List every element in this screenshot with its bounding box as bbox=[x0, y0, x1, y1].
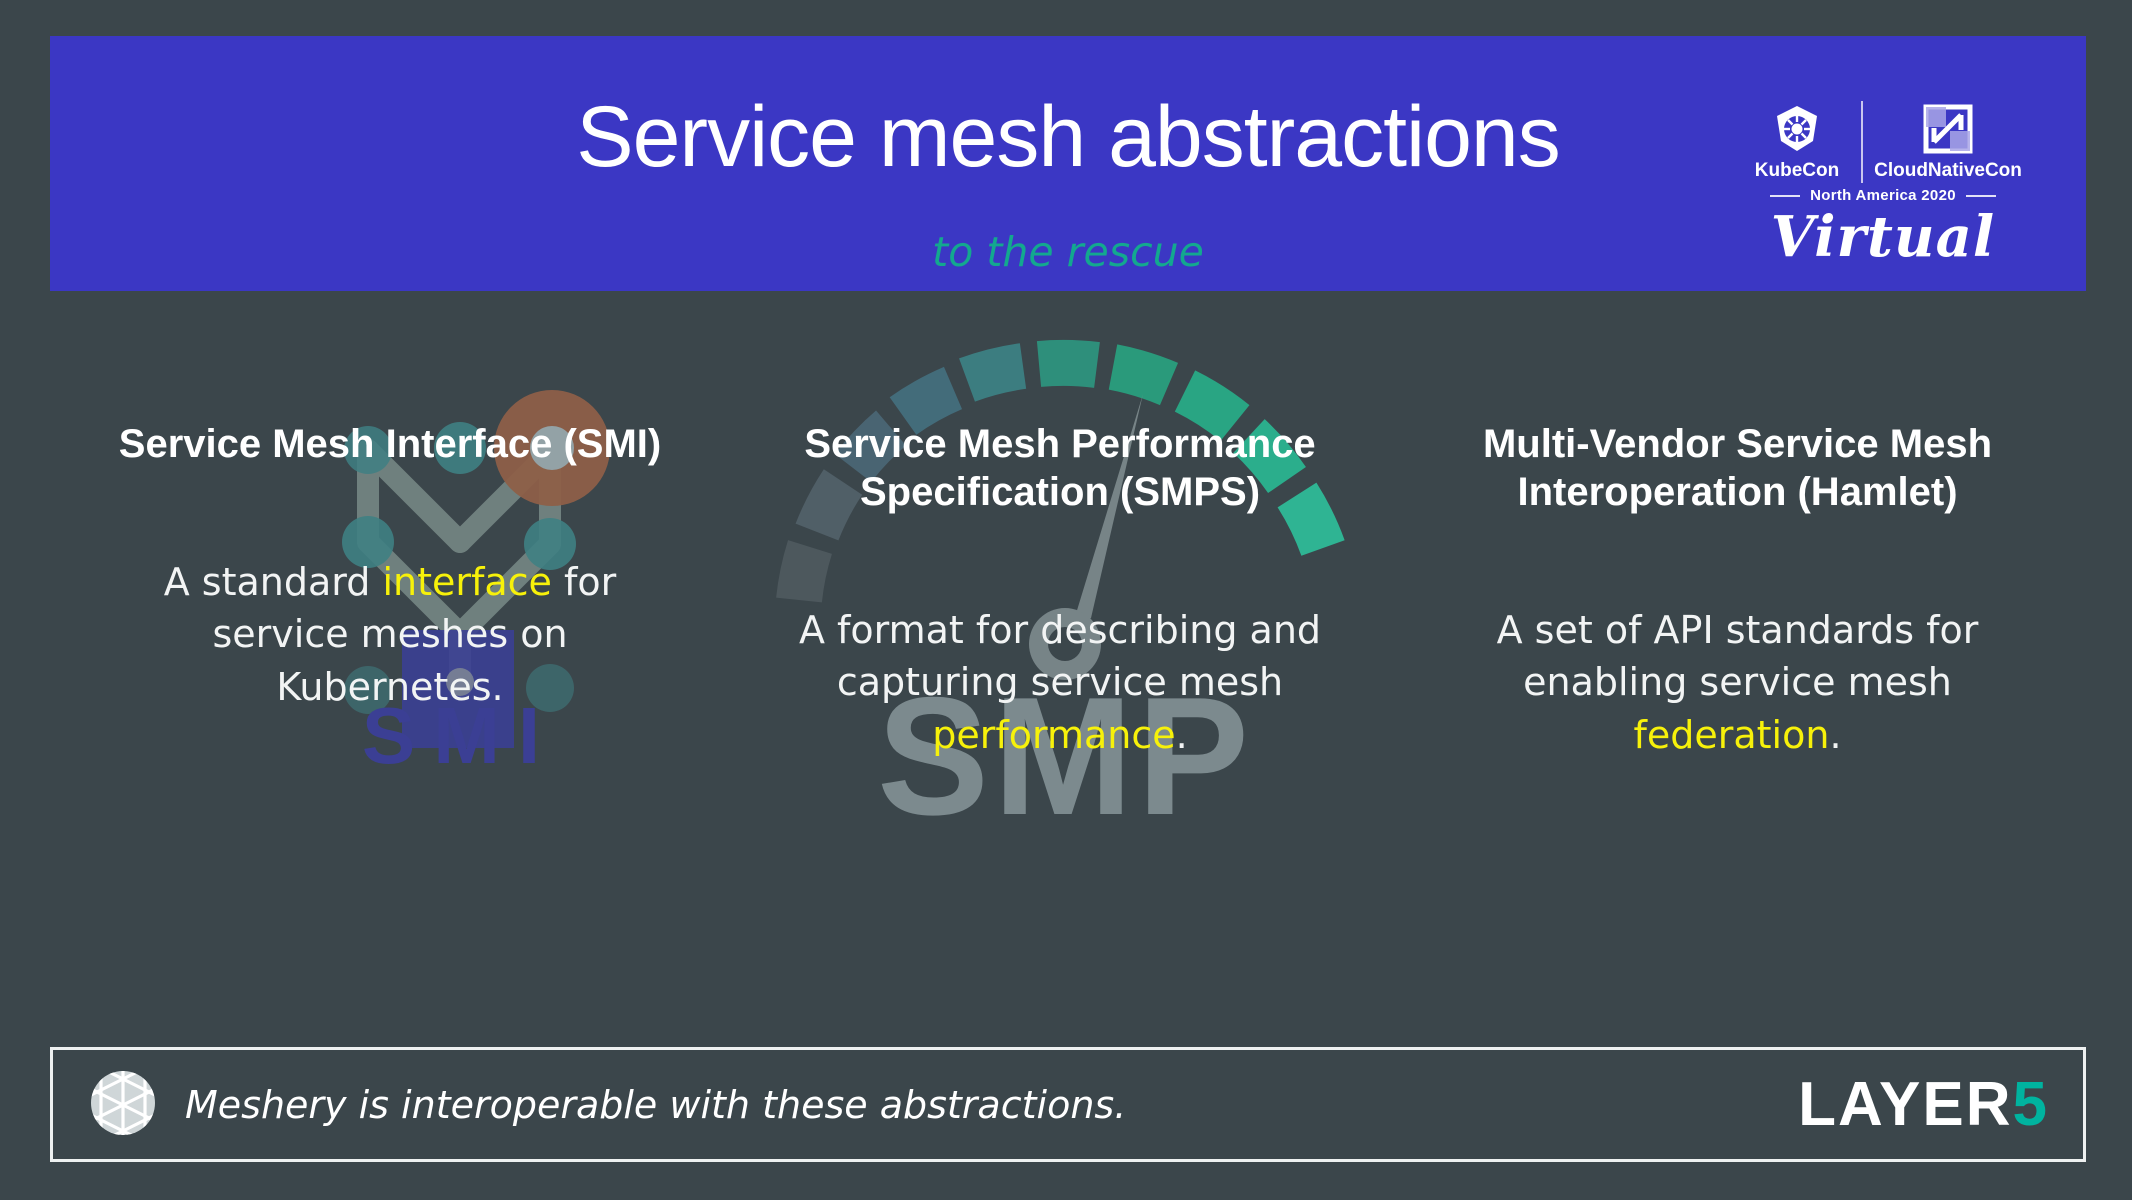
abstractions-columns: SMI Service Mesh Interface (SMI) A stand… bbox=[50, 420, 2086, 980]
region-rule-left bbox=[1770, 195, 1800, 197]
smi-body-before: A standard bbox=[164, 560, 383, 604]
column-smi: SMI Service Mesh Interface (SMI) A stand… bbox=[110, 420, 670, 980]
cloudnative-square-icon bbox=[1923, 102, 1973, 156]
logo-divider bbox=[1861, 101, 1863, 183]
column-smi-body: A standard interface for service meshes … bbox=[110, 556, 670, 713]
smps-body-before: A format for describing and capturing se… bbox=[799, 608, 1321, 704]
column-smps-heading: Service Mesh Performance Specification (… bbox=[730, 420, 1390, 516]
column-hamlet-heading: Multi-Vendor Service Mesh Interoperation… bbox=[1435, 420, 2040, 516]
layer5-wordmark: LAYER bbox=[1798, 1069, 2012, 1140]
column-hamlet: Multi-Vendor Service Mesh Interoperation… bbox=[1435, 420, 2040, 980]
hamlet-body-before: A set of API standards for enabling serv… bbox=[1497, 608, 1979, 704]
kubernetes-helm-icon bbox=[1771, 102, 1823, 156]
region-label: North America 2020 bbox=[1810, 187, 1956, 204]
kubecon-block: KubeCon bbox=[1743, 102, 1851, 182]
region-rule-right bbox=[1966, 195, 1996, 197]
footer-message: Meshery is interoperable with these abst… bbox=[185, 1083, 1126, 1127]
smp-gauge-watermark: SMP bbox=[720, 300, 1410, 860]
meshery-mesh-circle-icon bbox=[87, 1067, 159, 1143]
column-smps: SMP Service Mesh Performance Specificati… bbox=[730, 420, 1390, 980]
kubecon-logo-row: KubeCon CloudNativeCon bbox=[1738, 92, 2028, 192]
virtual-label: Virtual bbox=[1738, 204, 2028, 270]
layer5-logo: LAYER5 bbox=[1798, 1069, 2049, 1140]
layer5-accent-digit: 5 bbox=[2013, 1069, 2049, 1140]
cloudnativecon-block: CloudNativeCon bbox=[1873, 102, 2023, 182]
smps-body-highlight: performance bbox=[932, 713, 1175, 757]
footer-bar: Meshery is interoperable with these abst… bbox=[50, 1047, 2086, 1162]
hamlet-body-highlight: federation bbox=[1633, 713, 1829, 757]
cloudnativecon-label: CloudNativeCon bbox=[1874, 160, 2022, 182]
smps-body-after: . bbox=[1176, 713, 1188, 757]
kubecon-label: KubeCon bbox=[1755, 160, 1839, 182]
hamlet-body-after: . bbox=[1829, 713, 1841, 757]
column-hamlet-body: A set of API standards for enabling serv… bbox=[1435, 604, 2040, 761]
conference-region: North America 2020 bbox=[1738, 187, 2028, 204]
header-banner: Service mesh abstractions to the rescue bbox=[50, 36, 2086, 291]
column-smps-body: A format for describing and capturing se… bbox=[730, 604, 1390, 761]
column-smi-heading: Service Mesh Interface (SMI) bbox=[110, 420, 670, 468]
kubecon-logo: KubeCon CloudNativeCon bbox=[1738, 72, 2028, 272]
smi-body-highlight: interface bbox=[382, 560, 551, 604]
slide-root: Service mesh abstractions to the rescue bbox=[0, 0, 2132, 1200]
